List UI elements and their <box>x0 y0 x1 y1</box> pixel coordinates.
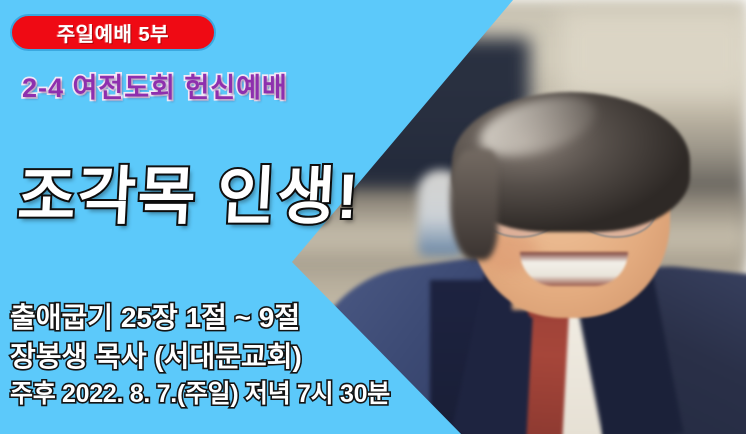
bottom-white-strip <box>0 434 746 438</box>
sermon-details: 출애굽기 25장 1절 ~ 9절 장봉생 목사 (서대문교회) 주후 2022.… <box>10 300 390 411</box>
service-badge-label: 주일예배 5부 <box>57 18 169 47</box>
preacher-name: 장봉생 목사 (서대문교회) <box>10 339 390 376</box>
event-subtitle: 2-4 여전도회 헌신예배 <box>22 66 288 105</box>
scripture-reference: 출애굽기 25장 1절 ~ 9절 <box>10 300 390 337</box>
sermon-title-card: 주일예배 5부 2-4 여전도회 헌신예배 조각목 인생! 출애굽기 25장 1… <box>0 0 746 438</box>
sermon-title: 조각목 인생! <box>16 146 363 237</box>
text-content: 주일예배 5부 2-4 여전도회 헌신예배 조각목 인생! 출애굽기 25장 1… <box>0 0 746 438</box>
service-badge: 주일예배 5부 <box>10 14 216 51</box>
service-datetime: 주후 2022. 8. 7.(주일) 저녁 7시 30분 <box>10 378 390 411</box>
